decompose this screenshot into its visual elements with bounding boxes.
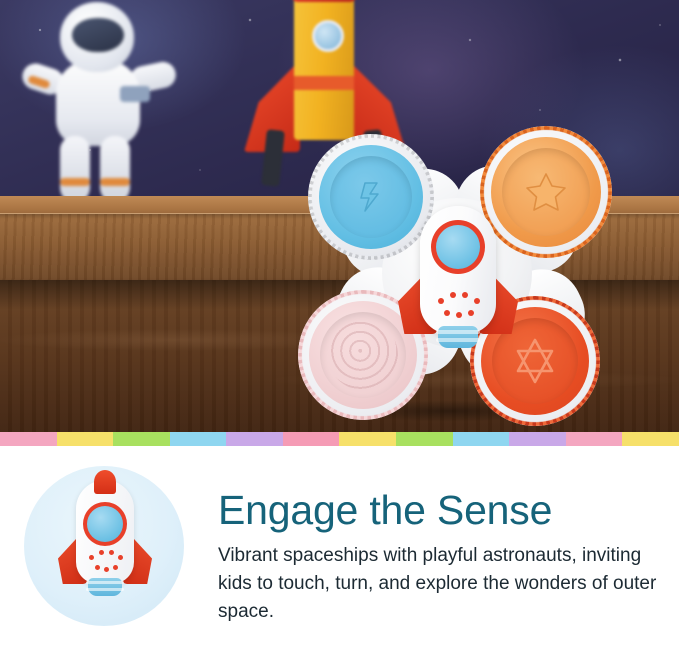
stripe-segment: [622, 432, 679, 446]
spinner-center-rocket-emblem: [398, 206, 518, 362]
thumbnail-rocket-rivets: [88, 550, 122, 574]
astronaut-right-leg: [100, 136, 130, 202]
rocket-prop-band: [294, 76, 354, 90]
stripe-segment: [113, 432, 170, 446]
astronaut-visor: [72, 18, 124, 52]
astronaut-chest-panel: [120, 86, 150, 102]
stripe-segment: [509, 432, 566, 446]
center-rocket-rivets: [436, 292, 480, 322]
astronaut-boot-stripe-left: [60, 178, 90, 186]
stripe-segment: [566, 432, 623, 446]
thumbnail-rocket-nose-cone: [94, 470, 116, 494]
stripe-segment: [0, 432, 57, 446]
rocket-prop-window: [312, 20, 344, 52]
center-rocket-window: [436, 225, 480, 269]
hero-photo: [0, 0, 679, 432]
astronaut-boot-stripe-right: [100, 178, 130, 186]
spiral-icon: [328, 320, 398, 390]
astronaut-left-leg: [60, 136, 90, 202]
stripe-segment: [226, 432, 283, 446]
center-rocket-nozzle-line-1: [436, 330, 480, 334]
stripe-segment: [339, 432, 396, 446]
stripe-segment: [170, 432, 227, 446]
thumbnail-rocket-nozzle-line-1: [86, 581, 124, 584]
product-image: Engage the Sense Vibrant spaceships with…: [0, 0, 679, 645]
thumbnail-rocket: [58, 480, 152, 612]
caption-panel: Engage the Sense Vibrant spaceships with…: [0, 446, 679, 645]
rocket-prop-nose-cone: [292, 0, 356, 2]
astronaut-body: [56, 60, 140, 146]
thumbnail-rocket-window: [87, 506, 123, 542]
center-rocket-nozzle-line-2: [436, 338, 480, 342]
rocket-spinner-closeup-thumbnail: [24, 466, 184, 626]
astronaut-figure: [8, 0, 194, 200]
stripe-segment: [283, 432, 340, 446]
thumbnail-rocket-nozzle-line-2: [86, 588, 124, 591]
headline: Engage the Sense: [218, 486, 658, 534]
caption-text-block: Engage the Sense Vibrant spaceships with…: [218, 486, 658, 626]
stripe-segment: [57, 432, 114, 446]
stripe-segment: [453, 432, 510, 446]
stripe-segment: [396, 432, 453, 446]
body-text: Vibrant spaceships with playful astronau…: [218, 542, 658, 626]
rocket-fidget-spinner: [294, 120, 624, 420]
color-stripe-divider: [0, 432, 679, 446]
